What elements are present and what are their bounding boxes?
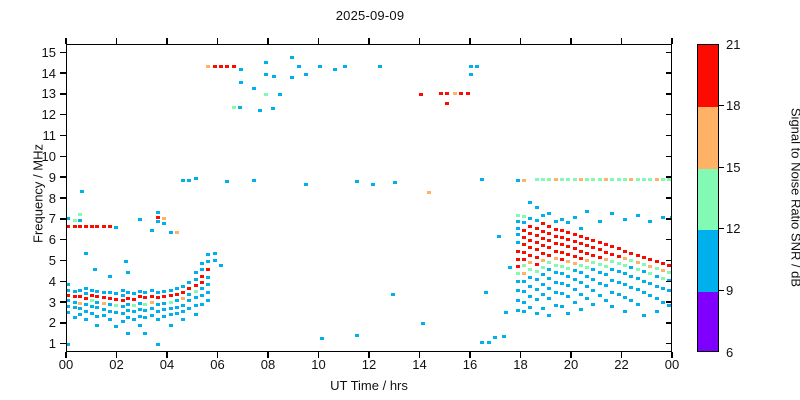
data-point bbox=[232, 65, 236, 68]
data-point bbox=[169, 324, 173, 327]
data-point bbox=[535, 234, 539, 237]
y-axis-tick-right bbox=[666, 135, 672, 136]
data-point bbox=[333, 68, 337, 71]
data-point bbox=[175, 306, 179, 309]
data-point bbox=[598, 271, 602, 274]
data-point bbox=[541, 307, 545, 310]
data-point bbox=[132, 292, 136, 295]
data-point bbox=[114, 226, 118, 229]
data-point bbox=[573, 240, 577, 243]
data-point bbox=[150, 301, 154, 304]
x-axis-tick-label: 14 bbox=[400, 358, 440, 371]
data-point bbox=[579, 257, 583, 260]
data-point bbox=[143, 296, 147, 299]
data-point bbox=[528, 306, 532, 309]
data-point bbox=[623, 264, 627, 267]
data-point bbox=[114, 325, 118, 328]
x-axis-tick-label: 00 bbox=[46, 358, 86, 371]
data-point bbox=[560, 251, 564, 254]
y-axis-tick bbox=[60, 135, 66, 136]
x-axis-tick-top bbox=[621, 38, 622, 44]
data-point bbox=[445, 102, 449, 105]
data-point bbox=[547, 178, 551, 181]
data-point bbox=[516, 299, 520, 302]
data-point bbox=[661, 277, 665, 280]
data-point bbox=[138, 295, 142, 298]
data-point bbox=[271, 107, 275, 110]
data-point bbox=[156, 216, 160, 219]
data-point bbox=[667, 304, 671, 307]
colorbar-title: Signal to Noise Ratio SNR / dB bbox=[789, 48, 800, 348]
data-point bbox=[181, 291, 185, 294]
data-point bbox=[181, 304, 185, 307]
data-point bbox=[95, 290, 99, 293]
data-point bbox=[642, 263, 646, 266]
data-point bbox=[206, 283, 210, 286]
data-point bbox=[522, 243, 526, 246]
data-point bbox=[610, 253, 614, 256]
y-axis-tick bbox=[60, 72, 66, 73]
data-point bbox=[493, 336, 497, 339]
data-point bbox=[661, 178, 665, 181]
data-point bbox=[84, 303, 88, 306]
data-point bbox=[604, 284, 608, 287]
data-point bbox=[78, 302, 82, 305]
data-point bbox=[121, 289, 125, 292]
data-point bbox=[591, 178, 595, 181]
data-point bbox=[573, 269, 577, 272]
data-point bbox=[610, 305, 614, 308]
data-point bbox=[535, 263, 539, 266]
data-point bbox=[528, 225, 532, 228]
x-axis-tick-top bbox=[267, 38, 268, 44]
data-point bbox=[598, 282, 602, 285]
data-point bbox=[200, 287, 204, 290]
data-point bbox=[554, 271, 558, 274]
data-point bbox=[95, 295, 99, 298]
colorbar-tick-label: 12 bbox=[726, 222, 756, 235]
data-point bbox=[560, 282, 564, 285]
data-point bbox=[78, 213, 82, 216]
data-point bbox=[114, 292, 118, 295]
data-point bbox=[610, 260, 614, 263]
data-point bbox=[78, 307, 82, 310]
data-point bbox=[636, 277, 640, 280]
data-point bbox=[528, 261, 532, 264]
data-point bbox=[573, 301, 577, 304]
data-point bbox=[175, 299, 179, 302]
colorbar-tick-label: 15 bbox=[726, 161, 756, 174]
data-point bbox=[138, 218, 142, 221]
data-point bbox=[66, 305, 70, 308]
data-point bbox=[547, 297, 551, 300]
data-point bbox=[95, 225, 99, 228]
data-point bbox=[156, 310, 160, 313]
data-point bbox=[623, 218, 627, 221]
data-point bbox=[84, 310, 88, 313]
data-point bbox=[126, 332, 130, 335]
data-point bbox=[522, 179, 526, 182]
data-point bbox=[648, 258, 652, 261]
data-point bbox=[84, 297, 88, 300]
data-point bbox=[93, 268, 97, 271]
data-point bbox=[591, 289, 595, 292]
data-point bbox=[213, 65, 217, 68]
data-point bbox=[528, 268, 532, 271]
y-axis-tick-right bbox=[666, 176, 672, 177]
data-point bbox=[617, 247, 621, 250]
y-axis-tick-label: 15 bbox=[18, 46, 56, 59]
data-point bbox=[252, 179, 256, 182]
data-point bbox=[169, 301, 173, 304]
data-point bbox=[102, 314, 106, 317]
data-point bbox=[502, 335, 506, 338]
data-point bbox=[516, 309, 520, 312]
data-point bbox=[617, 293, 621, 296]
data-point bbox=[150, 289, 154, 292]
data-point bbox=[560, 258, 564, 261]
data-point bbox=[95, 301, 99, 304]
data-point bbox=[623, 178, 627, 181]
data-point bbox=[566, 275, 570, 278]
data-point bbox=[554, 235, 558, 238]
data-point bbox=[535, 206, 539, 209]
colorbar-tick-label: 9 bbox=[726, 284, 756, 297]
data-point bbox=[566, 253, 570, 256]
colorbar-tick-label: 6 bbox=[726, 346, 756, 359]
y-axis-tick bbox=[60, 239, 66, 240]
data-point bbox=[66, 289, 70, 292]
data-point bbox=[102, 302, 106, 305]
data-point bbox=[156, 296, 160, 299]
data-point bbox=[598, 263, 602, 266]
data-point bbox=[547, 232, 551, 235]
data-point bbox=[573, 233, 577, 236]
data-point bbox=[623, 296, 627, 299]
data-point bbox=[636, 261, 640, 264]
ionogram-figure: 2025-09-09 12345678910111213141500020406… bbox=[0, 0, 800, 400]
data-point bbox=[591, 303, 595, 306]
data-point bbox=[528, 276, 532, 279]
y-axis-tick bbox=[60, 176, 66, 177]
data-point bbox=[579, 293, 583, 296]
data-point bbox=[175, 231, 179, 234]
data-point bbox=[516, 280, 520, 283]
data-point bbox=[636, 214, 640, 217]
data-point bbox=[566, 245, 570, 248]
data-point bbox=[126, 309, 130, 312]
data-point bbox=[84, 292, 88, 295]
data-point bbox=[194, 296, 198, 299]
data-point bbox=[150, 295, 154, 298]
y-axis-tick bbox=[60, 197, 66, 198]
data-point bbox=[516, 214, 520, 217]
data-point bbox=[258, 109, 262, 112]
data-point bbox=[516, 227, 520, 230]
data-point bbox=[143, 332, 147, 335]
data-point bbox=[78, 295, 82, 298]
data-point bbox=[121, 320, 125, 323]
data-point bbox=[617, 270, 621, 273]
data-point bbox=[655, 285, 659, 288]
y-axis-tick bbox=[60, 114, 66, 115]
data-point bbox=[560, 292, 564, 295]
data-point bbox=[655, 267, 659, 270]
data-point bbox=[560, 218, 564, 221]
data-point bbox=[162, 315, 166, 318]
data-point bbox=[598, 248, 602, 251]
data-point bbox=[655, 275, 659, 278]
data-point bbox=[121, 305, 125, 308]
data-point bbox=[114, 298, 118, 301]
data-point bbox=[585, 244, 589, 247]
data-point bbox=[175, 312, 179, 315]
colorbar-tick-label: 21 bbox=[726, 38, 756, 51]
data-point bbox=[181, 285, 185, 288]
data-point bbox=[84, 287, 88, 290]
data-point bbox=[391, 293, 395, 296]
data-point bbox=[175, 287, 179, 290]
data-point bbox=[579, 250, 583, 253]
y-axis-tick bbox=[60, 343, 66, 344]
data-point bbox=[484, 291, 488, 294]
data-point bbox=[126, 316, 130, 319]
data-point bbox=[655, 297, 659, 300]
data-point bbox=[522, 301, 526, 304]
data-point bbox=[560, 229, 564, 232]
colorbar-band-red bbox=[698, 45, 718, 107]
data-point bbox=[95, 306, 99, 309]
x-axis-tick-label: 12 bbox=[349, 358, 389, 371]
data-point bbox=[579, 242, 583, 245]
data-point bbox=[169, 231, 173, 234]
data-point bbox=[290, 76, 294, 79]
data-point bbox=[194, 278, 198, 281]
data-point bbox=[648, 294, 652, 297]
data-point bbox=[585, 237, 589, 240]
data-point bbox=[232, 106, 236, 109]
data-point bbox=[73, 225, 77, 228]
data-point bbox=[156, 291, 160, 294]
x-axis-tick-label: 22 bbox=[602, 358, 642, 371]
plot-area[interactable] bbox=[66, 44, 672, 352]
data-point bbox=[629, 178, 633, 181]
x-axis-tick-label: 20 bbox=[551, 358, 591, 371]
y-axis-tick bbox=[60, 301, 66, 302]
data-point bbox=[427, 191, 431, 194]
y-axis-tick bbox=[60, 52, 66, 53]
data-point bbox=[598, 256, 602, 259]
data-point bbox=[585, 275, 589, 278]
data-point bbox=[522, 229, 526, 232]
data-point bbox=[143, 303, 147, 306]
data-point bbox=[73, 295, 77, 298]
x-axis-tick-top bbox=[469, 38, 470, 44]
data-point bbox=[541, 252, 545, 255]
y-axis-tick-right bbox=[666, 156, 672, 157]
data-point bbox=[617, 255, 621, 258]
data-point bbox=[591, 268, 595, 271]
x-axis-tick-label: 06 bbox=[198, 358, 238, 371]
x-axis-tick-top bbox=[65, 38, 66, 44]
data-point bbox=[378, 65, 382, 68]
data-point bbox=[522, 215, 526, 218]
data-point bbox=[667, 271, 671, 274]
data-point bbox=[560, 305, 564, 308]
y-axis-tick-right bbox=[666, 281, 672, 282]
data-point bbox=[138, 302, 142, 305]
data-point bbox=[528, 285, 532, 288]
data-point bbox=[78, 219, 82, 222]
data-point bbox=[90, 299, 94, 302]
data-point bbox=[297, 65, 301, 68]
data-point bbox=[623, 283, 627, 286]
data-point bbox=[541, 273, 545, 276]
data-point bbox=[554, 304, 558, 307]
x-axis-title: UT Time / hrs bbox=[66, 378, 672, 393]
data-point bbox=[108, 291, 112, 294]
data-point bbox=[138, 324, 142, 327]
data-point bbox=[132, 310, 136, 313]
data-point bbox=[121, 299, 125, 302]
data-point bbox=[604, 258, 608, 261]
data-point bbox=[554, 250, 558, 253]
data-point bbox=[73, 316, 77, 319]
data-point bbox=[102, 296, 106, 299]
data-point bbox=[181, 297, 185, 300]
data-point bbox=[200, 275, 204, 278]
data-point bbox=[239, 81, 243, 84]
data-point bbox=[554, 291, 558, 294]
data-point bbox=[126, 271, 130, 274]
data-point bbox=[162, 217, 166, 220]
data-point bbox=[598, 178, 602, 181]
data-point bbox=[573, 288, 577, 291]
data-point bbox=[648, 220, 652, 223]
y-axis-tick bbox=[60, 281, 66, 282]
data-point bbox=[547, 246, 551, 249]
data-point bbox=[604, 251, 608, 254]
data-point bbox=[187, 307, 191, 310]
data-point bbox=[642, 314, 646, 317]
data-point bbox=[579, 227, 583, 230]
data-point bbox=[566, 221, 570, 224]
data-point bbox=[138, 290, 142, 293]
x-axis-tick-label: 02 bbox=[97, 358, 137, 371]
data-point bbox=[206, 291, 210, 294]
data-point bbox=[121, 294, 125, 297]
x-axis-tick-top bbox=[166, 38, 167, 44]
data-point bbox=[459, 92, 463, 95]
data-point bbox=[528, 217, 532, 220]
data-point bbox=[206, 65, 210, 68]
data-point bbox=[629, 299, 633, 302]
data-point bbox=[66, 343, 70, 346]
y-axis-title: Frequency / MHz bbox=[31, 64, 46, 324]
data-point bbox=[541, 222, 545, 225]
y-axis-tick bbox=[60, 260, 66, 261]
data-point bbox=[516, 250, 520, 253]
data-point bbox=[194, 177, 198, 180]
data-point bbox=[554, 220, 558, 223]
y-axis-tick-right bbox=[666, 260, 672, 261]
data-point bbox=[585, 259, 589, 262]
y-axis-tick-right bbox=[666, 52, 672, 53]
data-point bbox=[73, 306, 77, 309]
data-point bbox=[162, 295, 166, 298]
data-point bbox=[304, 183, 308, 186]
x-axis-tick-label: 16 bbox=[450, 358, 490, 371]
data-point bbox=[591, 254, 595, 257]
x-axis-tick-top bbox=[116, 38, 117, 44]
data-point bbox=[541, 237, 545, 240]
x-axis-tick-label: 18 bbox=[501, 358, 541, 371]
data-point bbox=[535, 312, 539, 315]
data-point bbox=[90, 312, 94, 315]
data-point bbox=[73, 290, 77, 293]
data-point bbox=[264, 93, 268, 96]
data-point bbox=[169, 313, 173, 316]
data-point bbox=[264, 61, 268, 64]
data-point bbox=[541, 230, 545, 233]
colorbar-band-orange bbox=[698, 107, 718, 169]
data-point bbox=[655, 260, 659, 263]
colorbar-band-purple bbox=[698, 291, 718, 352]
data-point bbox=[419, 93, 423, 96]
colorbar-tick bbox=[719, 167, 724, 168]
data-point bbox=[528, 254, 532, 257]
data-point bbox=[108, 303, 112, 306]
data-point bbox=[318, 65, 322, 68]
data-point bbox=[648, 282, 652, 285]
data-point bbox=[194, 284, 198, 287]
data-point bbox=[629, 259, 633, 262]
data-point bbox=[304, 73, 308, 76]
data-point bbox=[175, 293, 179, 296]
data-point bbox=[522, 290, 526, 293]
y-axis-tick-right bbox=[666, 93, 672, 94]
data-point bbox=[554, 257, 558, 260]
data-point bbox=[143, 291, 147, 294]
data-point bbox=[272, 75, 276, 78]
data-point bbox=[591, 261, 595, 264]
data-point bbox=[661, 216, 665, 219]
data-point bbox=[573, 262, 577, 265]
data-point bbox=[156, 211, 160, 214]
x-axis-tick-top bbox=[570, 38, 571, 44]
data-point bbox=[585, 210, 589, 213]
y-axis-tick-label: 1 bbox=[18, 337, 56, 350]
data-point bbox=[541, 214, 545, 217]
colorbar[interactable] bbox=[697, 44, 719, 352]
data-point bbox=[535, 219, 539, 222]
data-point bbox=[629, 275, 633, 278]
data-point bbox=[623, 272, 627, 275]
data-point bbox=[547, 268, 551, 271]
data-point bbox=[522, 280, 526, 283]
data-point bbox=[623, 310, 627, 313]
data-point bbox=[138, 308, 142, 311]
data-point bbox=[547, 277, 551, 280]
data-point bbox=[610, 245, 614, 248]
data-point bbox=[206, 260, 210, 263]
data-point bbox=[132, 298, 136, 301]
data-point bbox=[516, 179, 520, 182]
data-point bbox=[566, 267, 570, 270]
data-point bbox=[108, 318, 112, 321]
data-point bbox=[604, 243, 608, 246]
data-point bbox=[522, 236, 526, 239]
